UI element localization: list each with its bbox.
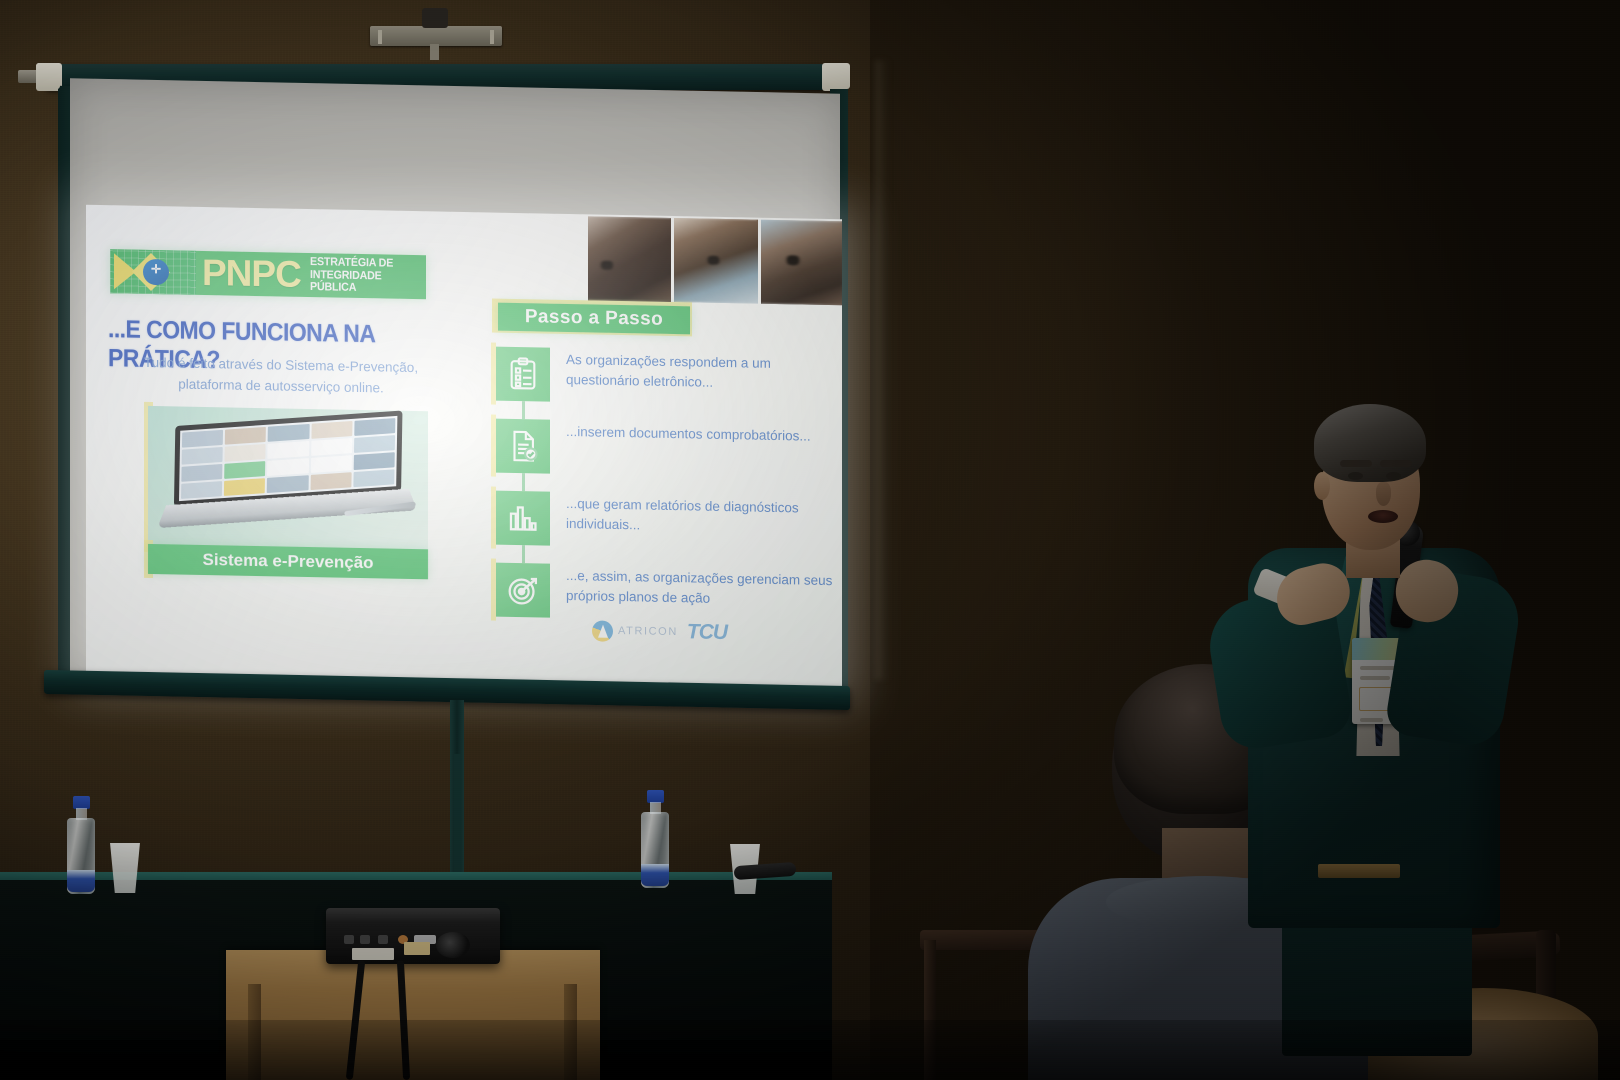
step-text: ...inserem documentos comprobatórios... xyxy=(566,420,811,446)
step-item: ...e, assim, as organizações gerenciam s… xyxy=(496,563,836,624)
laptop-image xyxy=(148,406,428,553)
laptop-thumbnail xyxy=(310,472,351,490)
portrait-photo-3 xyxy=(761,220,842,306)
laptop-thumbnail xyxy=(354,435,395,453)
target-arrow-icon xyxy=(496,563,550,618)
tcu-logo: TCU xyxy=(687,620,727,645)
mount-bolt xyxy=(490,30,494,44)
step-text: As organizações respondem a um questioná… xyxy=(566,348,836,394)
projector-lens xyxy=(436,932,470,958)
laptop-thumbnail xyxy=(353,452,394,470)
atricon-mark-icon xyxy=(592,620,613,641)
laptop-thumbnail xyxy=(225,427,266,445)
laptop-thumbnail xyxy=(353,469,394,487)
atricon-label: ATRICON xyxy=(618,625,678,638)
laptop-thumbnail xyxy=(268,424,309,442)
bar-chart-icon xyxy=(496,491,550,546)
wall-seam xyxy=(875,60,889,680)
clipboard-checklist-icon xyxy=(496,347,550,402)
laptop-thumbnail xyxy=(311,438,352,456)
water-bottle-left xyxy=(66,796,96,894)
screen-mount-peg xyxy=(430,44,439,60)
projector-table xyxy=(226,950,600,1080)
portrait-photo-1 xyxy=(588,216,671,302)
screen-mount-knob xyxy=(422,8,448,28)
step-text: ...e, assim, as organizações gerenciam s… xyxy=(566,564,836,610)
laptop-thumbnail xyxy=(354,418,395,436)
document-check-icon xyxy=(496,419,550,474)
presenter-eyebrow xyxy=(1340,460,1372,467)
atricon-logo: ATRICON xyxy=(592,620,678,643)
water-bottle-right xyxy=(640,790,670,888)
presenter-belt xyxy=(1318,864,1400,878)
laptop-thumbnail xyxy=(310,455,351,473)
presenter-nose xyxy=(1376,482,1391,506)
portrait-photo-2 xyxy=(674,218,757,304)
presenter-eye xyxy=(1386,472,1401,480)
pnpc-logo: ✛ PNPC ESTRATÉGIA DE INTEGRIDADE PÚBLICA xyxy=(110,249,426,299)
projector-sticker xyxy=(404,942,430,955)
laptop-thumbnail xyxy=(182,430,223,448)
projected-slide: ✛ PNPC ESTRATÉGIA DE INTEGRIDADE PÚBLICA… xyxy=(86,205,842,690)
mount-bolt xyxy=(378,30,382,44)
laptop-thumbnail xyxy=(181,464,222,482)
presenter-ear xyxy=(1314,472,1330,500)
presenter-eyebrow xyxy=(1380,460,1412,467)
laptop-thumbnail xyxy=(224,461,265,479)
step-item: As organizações respondem a um questioná… xyxy=(496,347,836,408)
step-item: ...que geram relatórios de diagnósticos … xyxy=(496,491,836,552)
laptop-thumbnail xyxy=(181,481,222,499)
section-heading: Passo a Passo xyxy=(498,303,690,335)
laptop-thumbnail xyxy=(311,421,352,439)
laptop-thumbnail xyxy=(268,441,309,459)
slide-footer-logos: ATRICON TCU xyxy=(592,618,727,645)
projector-label xyxy=(352,948,394,960)
laptop-thumbnail xyxy=(225,444,266,462)
pnpc-acronym: PNPC xyxy=(202,252,301,296)
laptop-thumbnail xyxy=(224,478,265,496)
presenter xyxy=(1200,398,1530,958)
laptop-thumbnail xyxy=(267,458,308,476)
brazil-flag-icon: ✛ xyxy=(110,249,196,295)
screen-bottom-cap-right xyxy=(826,63,850,89)
laptop-thumbnail xyxy=(182,447,223,465)
presenter-eye xyxy=(1348,472,1363,480)
screen-mount-bracket xyxy=(370,26,502,46)
step-text: ...que geram relatórios de diagnósticos … xyxy=(566,492,836,538)
projection-screen: ✛ PNPC ESTRATÉGIA DE INTEGRIDADE PÚBLICA… xyxy=(18,64,868,704)
presenter-hair xyxy=(1314,404,1426,482)
sistema-label: Sistema e-Prevenção xyxy=(148,544,428,579)
presenter-mouth xyxy=(1368,510,1398,523)
laptop-thumbnail xyxy=(267,475,308,493)
step-item: ...inserem documentos comprobatórios... xyxy=(496,419,836,480)
conference-room-scene: ✛ PNPC ESTRATÉGIA DE INTEGRIDADE PÚBLICA… xyxy=(0,0,1620,1080)
slide-subtitle: Tudo é feito através do Sistema e-Preven… xyxy=(116,351,446,399)
screen-bottom-cap-left xyxy=(36,63,60,89)
slide-photo-strip xyxy=(588,216,842,305)
steps-list: As organizações respondem a um questioná… xyxy=(496,347,836,642)
pnpc-tagline: ESTRATÉGIA DE INTEGRIDADE PÚBLICA xyxy=(310,256,418,296)
